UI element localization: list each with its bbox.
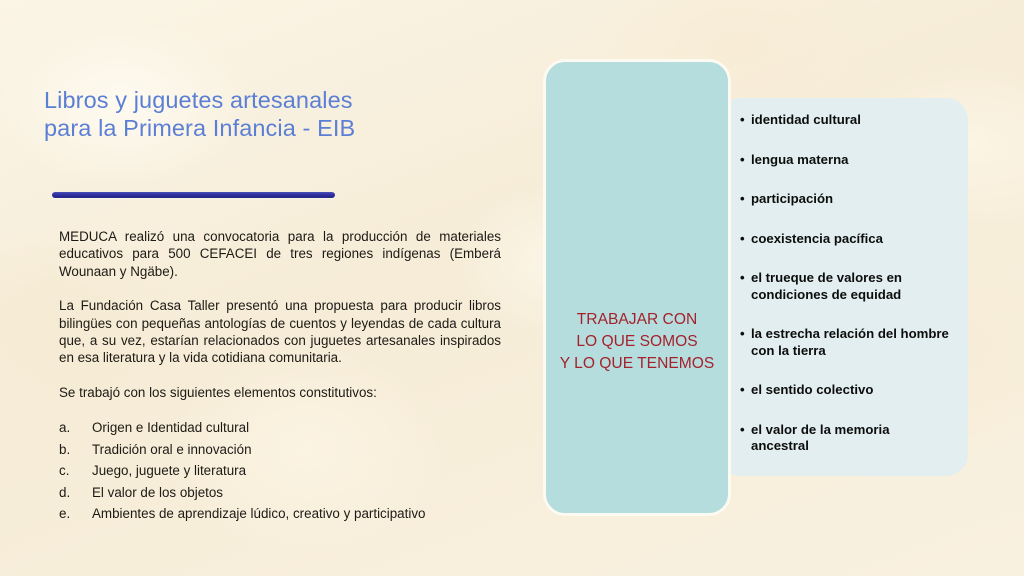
bullet-dot-icon: • <box>740 326 751 343</box>
slide-canvas: Libros y juguetes artesanales para la Pr… <box>0 0 1024 576</box>
teal-panel-heading: TRABAJAR CON LO QUE SOMOS Y LO QUE TENEM… <box>546 309 728 375</box>
bullet-item: •el trueque de valores en condiciones de… <box>740 270 950 303</box>
bullet-dot-icon: • <box>740 422 751 439</box>
title-underline-rule <box>52 192 335 198</box>
list-item-label: Origen e Identidad cultural <box>92 417 501 439</box>
list-lead-in-text: Se trabajó con los siguientes elementos … <box>59 384 501 401</box>
bullet-item-label: el sentido colectivo <box>751 382 950 399</box>
constitutive-elements-list: a.Origen e Identidad culturalb.Tradición… <box>59 417 501 525</box>
list-item-label: Ambientes de aprendizaje lúdico, creativ… <box>92 503 501 525</box>
body-text-block: MEDUCA realizó una convocatoria para la … <box>59 228 501 525</box>
list-item-marker: e. <box>59 503 92 525</box>
bullets-panel: •identidad cultural•lengua materna•parti… <box>718 98 968 476</box>
bullet-item-label: coexistencia pacífica <box>751 231 950 248</box>
teal-highlight-panel: TRABAJAR CON LO QUE SOMOS Y LO QUE TENEM… <box>543 59 731 516</box>
list-item: d.El valor de los objetos <box>59 482 501 504</box>
bullet-item: •la estrecha relación del hombre con la … <box>740 326 950 359</box>
list-item: b.Tradición oral e innovación <box>59 439 501 461</box>
list-item-marker: d. <box>59 482 92 504</box>
list-item-label: El valor de los objetos <box>92 482 501 504</box>
bullet-item-label: participación <box>751 191 950 208</box>
bullet-item: •el sentido colectivo <box>740 382 950 399</box>
list-item-marker: b. <box>59 439 92 461</box>
list-item-label: Tradición oral e innovación <box>92 439 501 461</box>
bullet-item-label: la estrecha relación del hombre con la t… <box>751 326 950 359</box>
bullet-item: •lengua materna <box>740 152 950 169</box>
bullet-item-label: el valor de la memoria ancestral <box>751 422 950 455</box>
left-content-column: Libros y juguetes artesanales para la Pr… <box>0 0 520 576</box>
bullet-dot-icon: • <box>740 382 751 399</box>
bullet-dot-icon: • <box>740 191 751 208</box>
list-item-marker: a. <box>59 417 92 439</box>
bullet-dot-icon: • <box>740 152 751 169</box>
paragraph-fundacion: La Fundación Casa Taller presentó una pr… <box>59 297 501 367</box>
bullet-item-label: lengua materna <box>751 152 950 169</box>
bullet-dot-icon: • <box>740 112 751 129</box>
list-item-marker: c. <box>59 460 92 482</box>
bullet-item: •el valor de la memoria ancestral <box>740 422 950 455</box>
paragraph-meduca: MEDUCA realizó una convocatoria para la … <box>59 228 501 280</box>
bullet-dot-icon: • <box>740 270 751 287</box>
list-item-label: Juego, juguete y literatura <box>92 460 501 482</box>
bullet-dot-icon: • <box>740 231 751 248</box>
bullet-item: •identidad cultural <box>740 112 950 129</box>
page-title: Libros y juguetes artesanales para la Pr… <box>44 86 464 142</box>
list-item: c.Juego, juguete y literatura <box>59 460 501 482</box>
bullet-item: •participación <box>740 191 950 208</box>
list-item: a.Origen e Identidad cultural <box>59 417 501 439</box>
list-item: e.Ambientes de aprendizaje lúdico, creat… <box>59 503 501 525</box>
bullet-item-label: identidad cultural <box>751 112 950 129</box>
bullet-item: •coexistencia pacífica <box>740 231 950 248</box>
values-bullet-list: •identidad cultural•lengua materna•parti… <box>740 112 950 455</box>
bullet-item-label: el trueque de valores en condiciones de … <box>751 270 950 303</box>
